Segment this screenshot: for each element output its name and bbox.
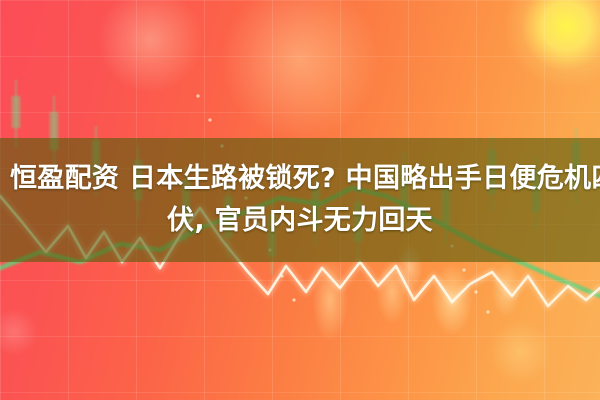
thumbnail-canvas: 恒盈配资 日本生路被锁死? 中国略出手日便危机四 伏, 官员内斗无力回天 <box>0 0 600 400</box>
headline-line-1: 恒盈配资 日本生路被锁死? 中国略出手日便危机四 <box>10 159 600 199</box>
headline-line-2: 伏, 官员内斗无力回天 <box>167 201 433 241</box>
headline: 恒盈配资 日本生路被锁死? 中国略出手日便危机四 伏, 官员内斗无力回天 <box>0 138 600 262</box>
